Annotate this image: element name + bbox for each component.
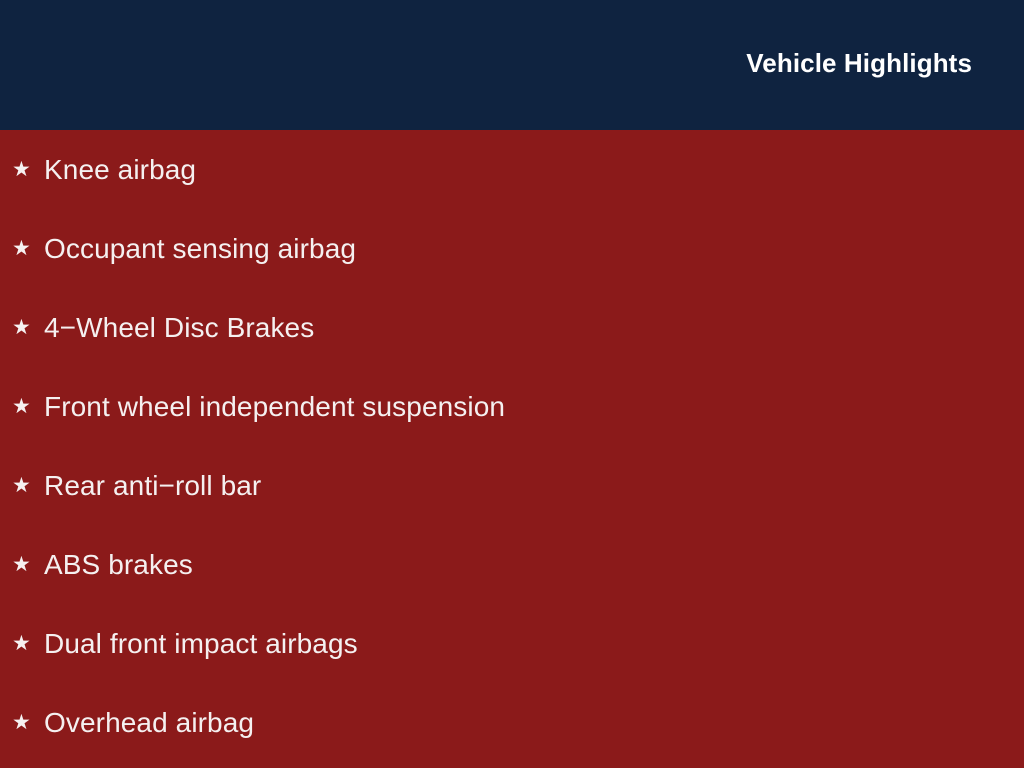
list-item: ★ Rear anti−roll bar bbox=[12, 466, 261, 506]
slide-header-band: Vehicle Highlights bbox=[0, 0, 1024, 130]
list-item: ★ 4−Wheel Disc Brakes bbox=[12, 308, 314, 348]
list-item: ★ Occupant sensing airbag bbox=[12, 229, 356, 269]
highlight-label: Overhead airbag bbox=[44, 706, 254, 740]
list-item: ★ Knee airbag bbox=[12, 150, 196, 190]
highlight-label: Occupant sensing airbag bbox=[44, 232, 356, 266]
star-bullet-icon: ★ bbox=[12, 396, 32, 417]
star-bullet-icon: ★ bbox=[12, 475, 32, 496]
highlight-label: Rear anti−roll bar bbox=[44, 469, 261, 503]
star-bullet-icon: ★ bbox=[12, 317, 32, 338]
list-item: ★ ABS brakes bbox=[12, 545, 193, 585]
star-bullet-icon: ★ bbox=[12, 633, 32, 654]
highlight-label: Knee airbag bbox=[44, 153, 196, 187]
highlight-label: ABS brakes bbox=[44, 548, 193, 582]
page-title: Vehicle Highlights bbox=[746, 47, 972, 79]
vehicle-highlights-slide: Vehicle Highlights ★ Knee airbag ★ Occup… bbox=[0, 0, 1024, 768]
list-item: ★ Front wheel independent suspension bbox=[12, 387, 505, 427]
star-bullet-icon: ★ bbox=[12, 159, 32, 180]
star-bullet-icon: ★ bbox=[12, 554, 32, 575]
star-bullet-icon: ★ bbox=[12, 712, 32, 733]
highlight-label: Front wheel independent suspension bbox=[44, 390, 505, 424]
vehicle-highlights-list: ★ Knee airbag ★ Occupant sensing airbag … bbox=[0, 130, 1024, 768]
highlight-label: 4−Wheel Disc Brakes bbox=[44, 311, 314, 345]
star-bullet-icon: ★ bbox=[12, 238, 32, 259]
highlight-label: Dual front impact airbags bbox=[44, 627, 358, 661]
list-item: ★ Dual front impact airbags bbox=[12, 624, 358, 664]
list-item: ★ Overhead airbag bbox=[12, 703, 254, 743]
